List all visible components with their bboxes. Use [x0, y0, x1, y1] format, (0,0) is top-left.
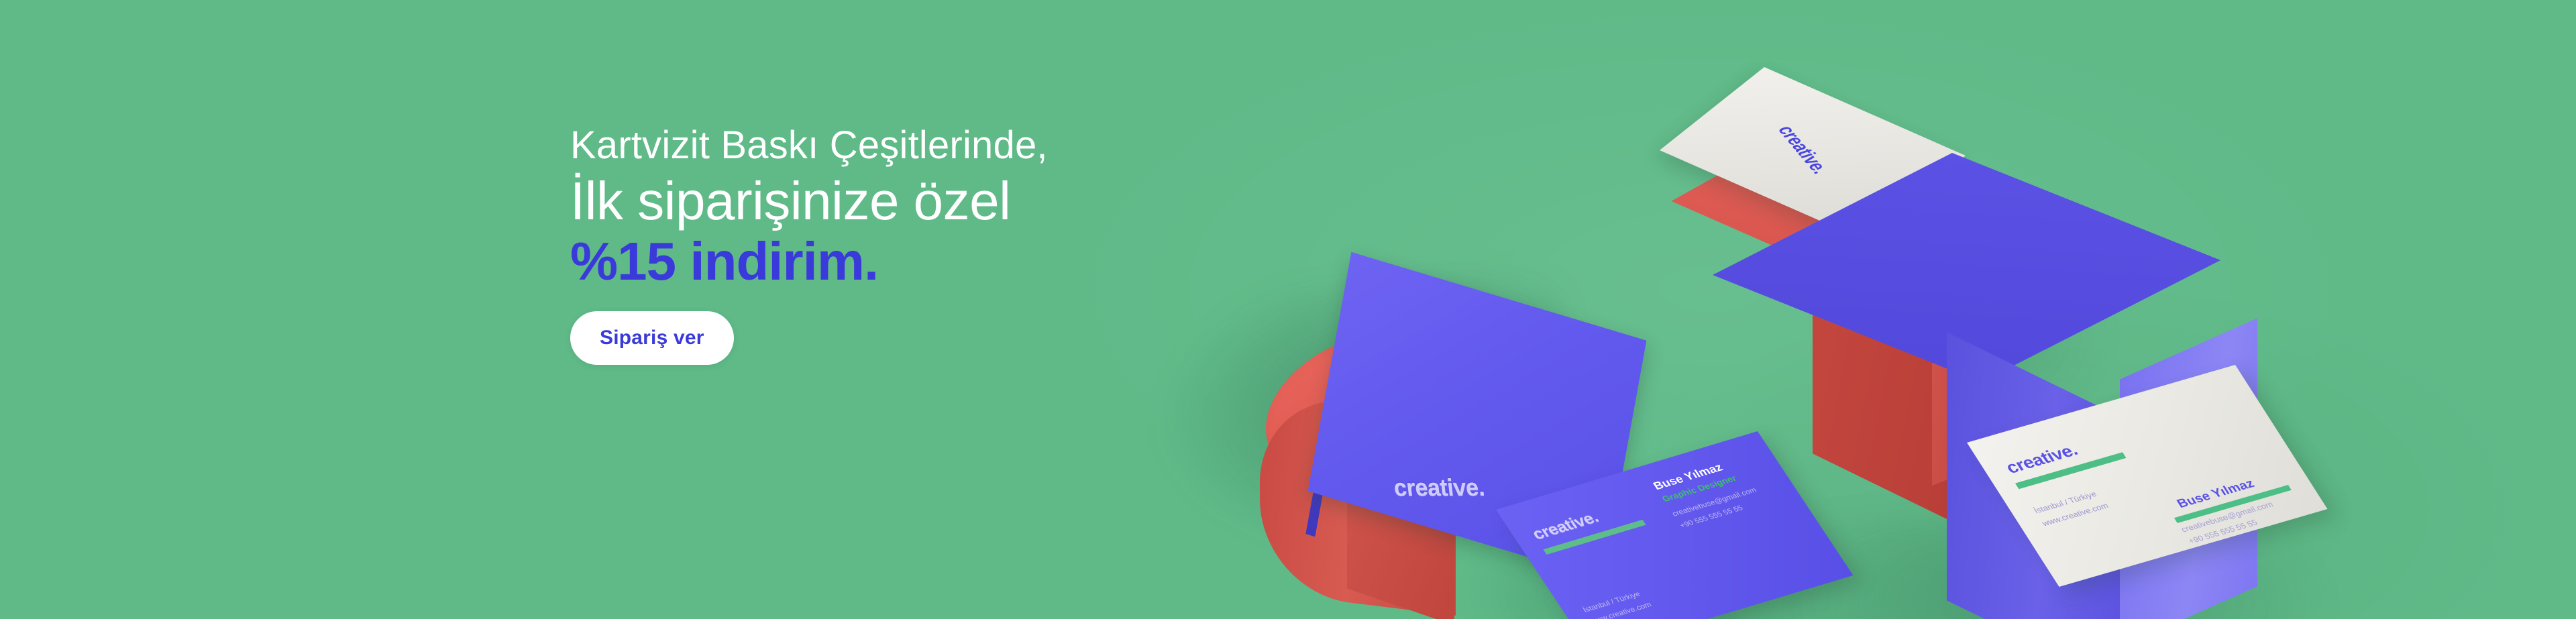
- business-card-mockup-scene: creative. creative. creative. Buse Yılma…: [1174, 0, 2576, 619]
- order-now-button[interactable]: Sipariş ver: [570, 311, 734, 365]
- headline-line-2: İlk siparişinize özel: [570, 174, 1241, 228]
- card-logo-creative: creative.: [1393, 474, 1486, 502]
- promo-copy-block: Kartvizit Baskı Çeşitlerinde, İlk sipari…: [570, 126, 1241, 365]
- headline-line-1: Kartvizit Baskı Çeşitlerinde,: [570, 126, 1241, 165]
- headline-discount: %15 indirim.: [570, 235, 1241, 288]
- promo-banner: creative. creative. creative. Buse Yılma…: [0, 0, 2576, 619]
- card-logo-creative: creative.: [1772, 123, 1834, 176]
